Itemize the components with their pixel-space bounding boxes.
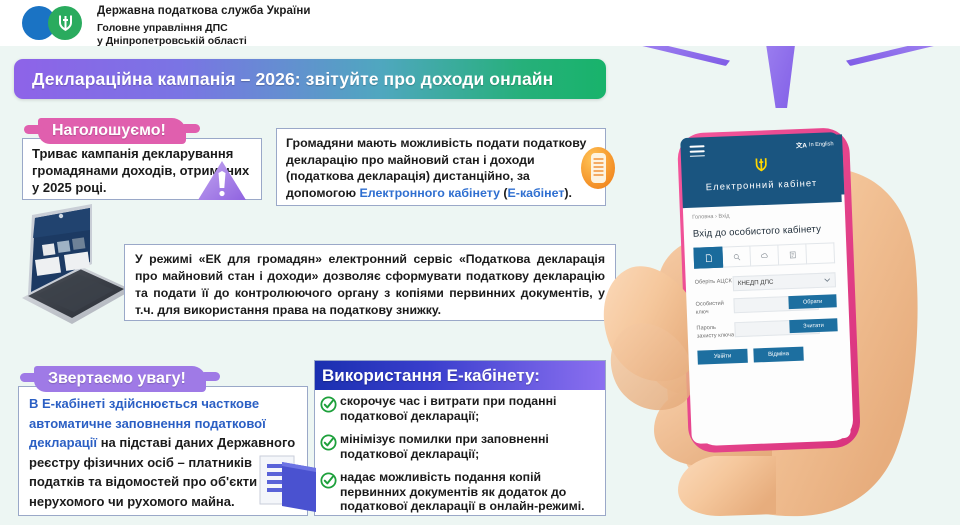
org-department-line2: у Дніпропетровській області bbox=[97, 35, 311, 48]
usage-heading-text: Використання Е-кабінету: bbox=[322, 366, 540, 386]
folder-archive-icon bbox=[258, 452, 320, 516]
banner-title: Декларацiйна кампанiя – 2026: звiтуйте п… bbox=[32, 69, 553, 90]
check-circle-icon bbox=[320, 396, 337, 413]
check-circle-icon bbox=[320, 434, 337, 451]
citizens-info-box: Громадяни мають можливість подати податк… bbox=[276, 128, 606, 206]
brush-tail-left bbox=[24, 125, 44, 134]
logo-green-circle-icon bbox=[48, 6, 82, 40]
brush-tail-right bbox=[200, 372, 220, 381]
usage-benefits-list: скорочує час і витрати при поданні подат… bbox=[315, 390, 605, 514]
trident-icon bbox=[58, 14, 73, 33]
list-item: скорочує час і витрати при поданні подат… bbox=[320, 394, 599, 423]
citizens-text-part2: ). bbox=[564, 186, 572, 200]
usage-item-text: скорочує час і витрати при поданні подат… bbox=[340, 394, 599, 423]
citizens-text: Громадяни мають можливість подати податк… bbox=[286, 135, 596, 201]
campaign-banner: Декларацiйна кампанiя – 2026: звiтуйте п… bbox=[14, 59, 606, 99]
attention-text: В Е-кабінеті здійснюється часткове автом… bbox=[29, 394, 297, 511]
attention-label-text: Звертаємо увагу! bbox=[48, 370, 186, 388]
usage-box: Використання Е-кабінету: скорочує час і … bbox=[314, 360, 606, 516]
org-name: Державна податкова служба України bbox=[97, 4, 311, 18]
brush-tail-right bbox=[180, 124, 200, 133]
usage-heading-bar: Використання Е-кабінету: bbox=[315, 361, 605, 390]
usage-item-text: мінімізує помилки при заповненні податко… bbox=[340, 432, 599, 461]
warning-triangle-icon bbox=[196, 158, 248, 203]
ek-mode-box: У режимі «ЕК для громадян» електронний с… bbox=[124, 244, 616, 321]
page-header: Державна податкова служба України Головн… bbox=[0, 0, 960, 46]
ecabinet-short-link[interactable]: Е-кабінет bbox=[508, 186, 565, 200]
hand-holding-phone-illustration bbox=[596, 118, 960, 525]
header-org-text: Державна податкова служба України Головн… bbox=[97, 4, 311, 47]
emphasis-label-text: Наголошуємо! bbox=[52, 122, 166, 140]
ecabinet-link[interactable]: Електронного кабінету bbox=[359, 186, 499, 200]
ek-mode-text: У режимі «ЕК для громадян» електронний с… bbox=[135, 251, 605, 319]
check-circle-icon bbox=[320, 472, 337, 489]
emphasis-label-badge: Наголошуємо! bbox=[38, 118, 186, 144]
scroll-document-icon bbox=[580, 146, 616, 190]
logo bbox=[22, 6, 104, 40]
citizens-text-mid: ( bbox=[500, 186, 508, 200]
infographic-canvas: Державна податкова служба України Головн… bbox=[0, 0, 960, 525]
usage-item-text: надає можливість подання копій первинних… bbox=[340, 470, 599, 514]
laptop-icon bbox=[14, 198, 136, 328]
org-department-line1: Головне управління ДПС bbox=[97, 22, 311, 35]
attention-label-badge: Звертаємо увагу! bbox=[34, 366, 206, 392]
list-item: надає можливість подання копій первинних… bbox=[320, 470, 599, 514]
brush-tail-left bbox=[20, 373, 40, 382]
list-item: мінімізує помилки при заповненні податко… bbox=[320, 432, 599, 461]
